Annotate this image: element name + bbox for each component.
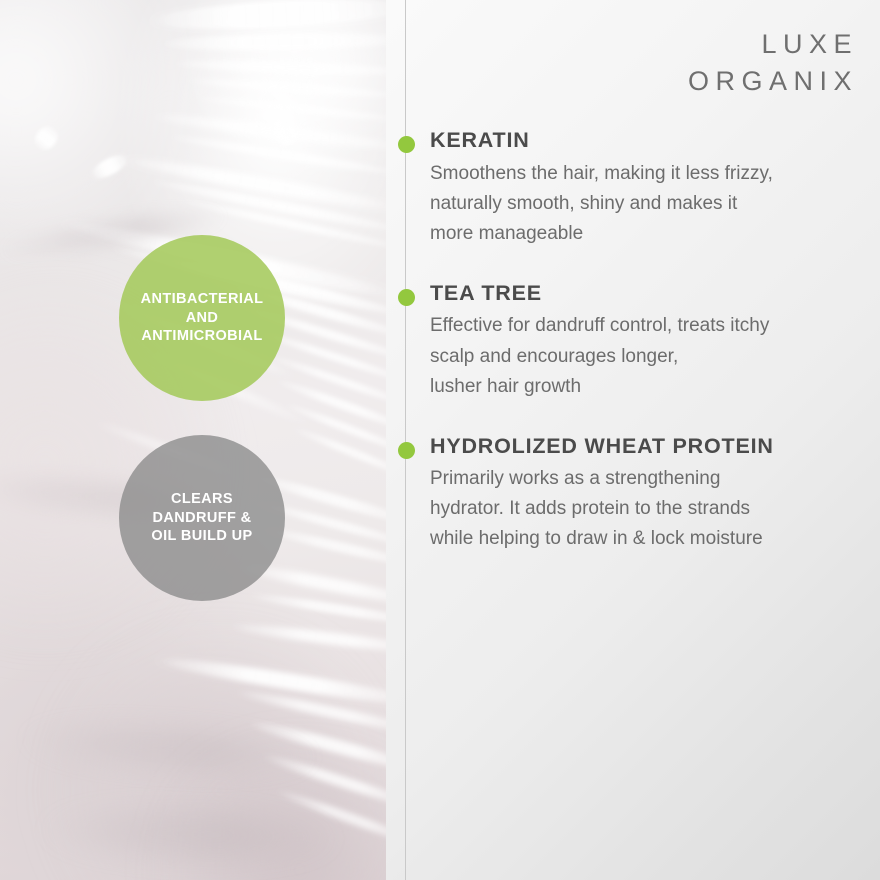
infographic-canvas: ANTIBACTERIAL AND ANTIMICROBIAL CLEARS D… bbox=[0, 0, 880, 880]
ingredient-description: Primarily works as a strengthening hydra… bbox=[430, 464, 868, 554]
description-line: while helping to draw in & lock moisture bbox=[430, 524, 868, 554]
dandruff-badge: CLEARS DANDRUFF & OIL BUILD UP bbox=[119, 435, 285, 601]
description-line: Primarily works as a strengthening bbox=[430, 464, 868, 494]
description-line: lusher hair growth bbox=[430, 372, 868, 402]
ingredient-title: TEA TREE bbox=[430, 281, 868, 306]
description-line: Effective for dandruff control, treats i… bbox=[430, 311, 868, 341]
description-line: hydrator. It adds protein to the strands bbox=[430, 494, 868, 524]
ingredient-item-keratin: KERATIN Smoothens the hair, making it le… bbox=[398, 128, 868, 249]
ingredient-title: KERATIN bbox=[430, 128, 868, 153]
badge-line: CLEARS bbox=[151, 490, 252, 509]
badge-line: AND bbox=[141, 309, 264, 328]
description-line: more manageable bbox=[430, 219, 868, 249]
badge-line: OIL BUILD UP bbox=[151, 527, 252, 546]
ingredient-item-tea-tree: TEA TREE Effective for dandruff control,… bbox=[398, 281, 868, 402]
bullet-dot-icon bbox=[398, 136, 415, 153]
badge-line: ANTIBACTERIAL bbox=[141, 290, 264, 309]
description-line: Smoothens the hair, making it less frizz… bbox=[430, 159, 868, 189]
badge-line: ANTIMICROBIAL bbox=[141, 327, 264, 346]
description-line: scalp and encourages longer, bbox=[430, 342, 868, 372]
ingredient-title: HYDROLIZED WHEAT PROTEIN bbox=[430, 434, 868, 459]
ingredient-item-hydrolized-wheat-protein: HYDROLIZED WHEAT PROTEIN Primarily works… bbox=[398, 434, 868, 555]
brand-logo-line-2: ORGANIX bbox=[688, 63, 858, 100]
badge-line: DANDRUFF & bbox=[151, 509, 252, 528]
brand-logo-line-1: LUXE bbox=[688, 26, 858, 63]
ingredient-description: Effective for dandruff control, treats i… bbox=[430, 311, 868, 401]
antibacterial-badge-text: ANTIBACTERIAL AND ANTIMICROBIAL bbox=[141, 290, 264, 346]
antibacterial-badge: ANTIBACTERIAL AND ANTIMICROBIAL bbox=[119, 235, 285, 401]
brand-logo: LUXE ORGANIX bbox=[688, 26, 858, 101]
product-texture-photo: ANTIBACTERIAL AND ANTIMICROBIAL CLEARS D… bbox=[0, 0, 386, 880]
description-line: naturally smooth, shiny and makes it bbox=[430, 189, 868, 219]
ingredient-list: KERATIN Smoothens the hair, making it le… bbox=[398, 128, 868, 554]
ingredient-description: Smoothens the hair, making it less frizz… bbox=[430, 159, 868, 249]
bullet-dot-icon bbox=[398, 289, 415, 306]
bullet-dot-icon bbox=[398, 442, 415, 459]
dandruff-badge-text: CLEARS DANDRUFF & OIL BUILD UP bbox=[151, 490, 252, 546]
